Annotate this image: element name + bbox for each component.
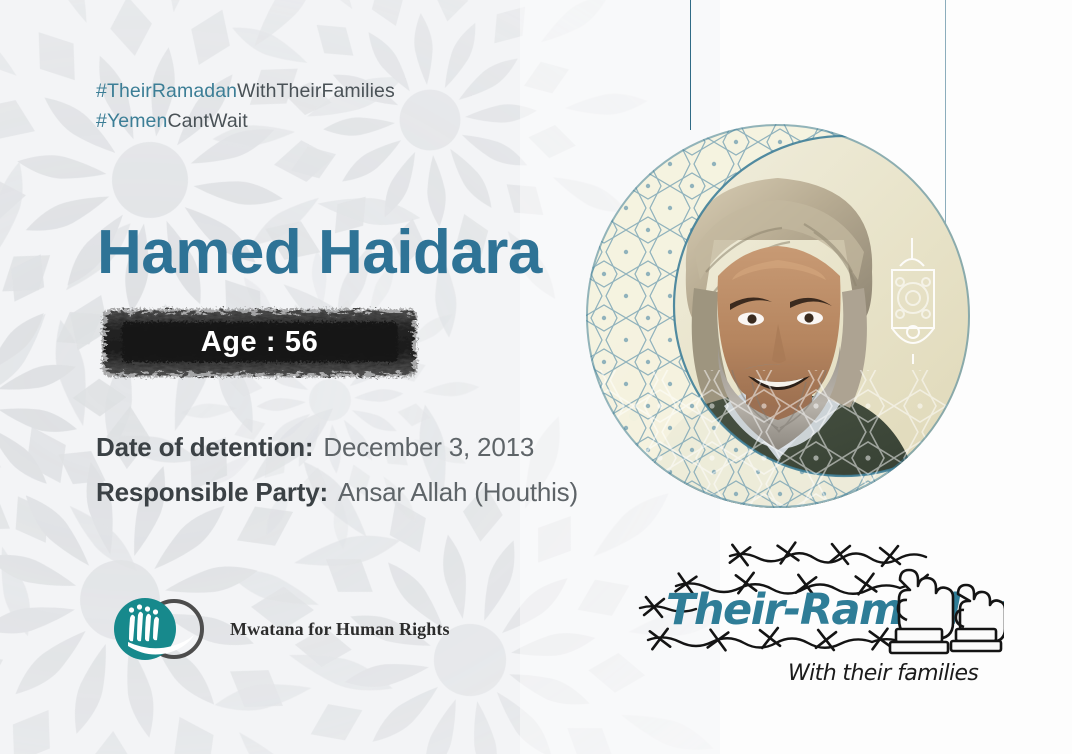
hanging-string-left xyxy=(690,0,691,130)
mwatana-calligraphy-icon xyxy=(100,592,224,666)
barbed-wire-icon xyxy=(730,543,926,566)
mwatana-logo: Mwatana for Human Rights xyxy=(100,592,450,666)
hashtag-primary-accent: #TheirRamadan xyxy=(96,80,237,102)
detail-label-date: Date of detention: xyxy=(96,432,313,463)
hashtag-secondary: #YemenCantWait xyxy=(96,106,395,136)
mwatana-label: Mwatana for Human Rights xyxy=(230,619,450,640)
age-badge-label: Age : 56 xyxy=(96,302,423,384)
hashtag-primary: #TheirRamadanWithTheirFamilies xyxy=(96,76,395,106)
detention-details: Date of detention: December 3, 2013 Resp… xyxy=(96,432,578,522)
detail-row-party: Responsible Party: Ansar Allah (Houthis) xyxy=(96,477,578,508)
hashtag-secondary-rest: CantWait xyxy=(167,110,247,132)
campaign-subtitle-text: With their families xyxy=(788,661,978,686)
detail-label-party: Responsible Party: xyxy=(96,477,328,508)
poster-canvas: #TheirRamadanWithTheirFamilies #YemenCan… xyxy=(0,0,1072,754)
detainee-portrait xyxy=(582,120,974,512)
hashtag-primary-rest: WithTheirFamilies xyxy=(237,80,395,102)
hashtag-secondary-accent: #Yemen xyxy=(96,110,167,132)
detail-row-date: Date of detention: December 3, 2013 xyxy=(96,432,578,463)
detail-value-party: Ansar Allah (Houthis) xyxy=(338,477,578,508)
detainee-name: Hamed Haidara xyxy=(97,217,542,288)
detail-value-date: December 3, 2013 xyxy=(323,432,534,463)
raised-fist-icon xyxy=(890,570,1004,653)
hashtag-group: #TheirRamadanWithTheirFamilies #YemenCan… xyxy=(96,76,395,136)
campaign-logo: Their-Ramadan xyxy=(618,528,1004,688)
age-badge: Age : 56 xyxy=(96,302,423,384)
